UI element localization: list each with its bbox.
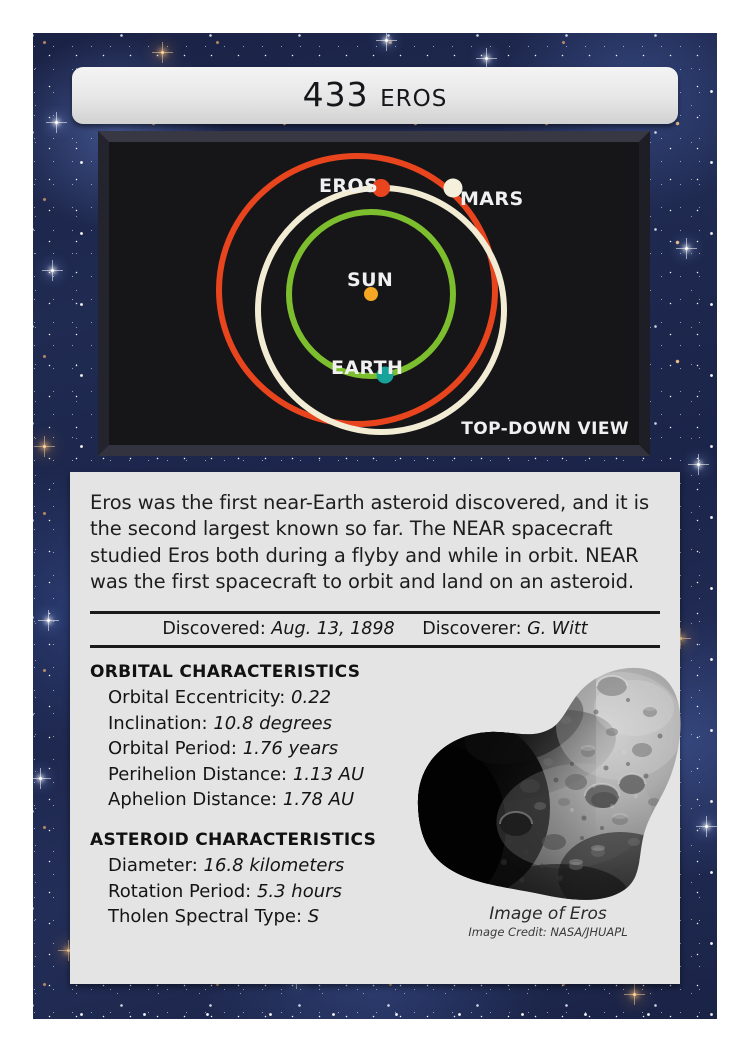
discovered-pair: Discovered: Aug. 13, 1898 (162, 619, 400, 639)
spec-label: Orbital Eccentricity: (108, 687, 285, 708)
bright-star (161, 51, 164, 54)
bright-star (697, 463, 700, 466)
bright-star (51, 269, 54, 272)
discoverer-value: G. Witt (527, 619, 588, 639)
asteroid-image-block: Image of Eros Image Credit: NASA/JHUAPL (406, 656, 690, 939)
orbit-diagram-panel: EROS MARS SUN EARTH TOP-DOWN VIEW (98, 131, 650, 456)
spec-row: Rotation Period: 5.3 hours (90, 879, 420, 905)
info-panel: Eros was the first near-Earth asteroid d… (70, 472, 680, 984)
spec-value: 5.3 hours (257, 881, 342, 902)
spec-label: Rotation Period: (108, 881, 251, 902)
spec-value: 1.13 AU (293, 764, 364, 785)
spec-row: Inclination: 10.8 degrees (90, 711, 420, 737)
discoverer-pair: Discoverer: G. Witt (422, 619, 587, 639)
discovered-label: Discovered: (162, 619, 266, 639)
diagram-view-label: TOP-DOWN VIEW (461, 419, 629, 439)
image-credit: Image Credit: NASA/JHUAPL (406, 925, 690, 939)
discovery-row: Discovered: Aug. 13, 1898 Discoverer: G.… (90, 611, 660, 648)
bright-star (55, 121, 58, 124)
specs-column: ORBITAL CHARACTERISTICS Orbital Eccentri… (90, 662, 420, 929)
spec-row: Tholen Spectral Type: S (90, 904, 420, 930)
bright-star (47, 619, 50, 622)
bright-star (633, 993, 636, 996)
asteroid-characteristics-heading: ASTEROID CHARACTERISTICS (90, 830, 420, 850)
bright-star (43, 445, 46, 448)
image-caption: Image of Eros (406, 904, 690, 924)
panel-bevel-left (98, 131, 109, 456)
spec-value: 16.8 kilometers (204, 855, 345, 876)
page-title: 433 Eros (303, 78, 448, 114)
spec-label: Tholen Spectral Type: (108, 906, 302, 927)
spec-value: 0.22 (291, 687, 331, 708)
spec-value: 1.76 years (243, 738, 338, 759)
spec-label: Aphelion Distance: (108, 789, 277, 810)
poster-page: 433 Eros EROS MARS SUN E (0, 0, 750, 1049)
spec-row: Orbital Period: 1.76 years (90, 736, 420, 762)
diagram-label-mars: MARS (460, 188, 524, 210)
panel-bevel-top (98, 131, 650, 142)
title-banner: 433 Eros (72, 67, 678, 124)
bright-star (485, 57, 488, 60)
spec-row: Diameter: 16.8 kilometers (90, 853, 420, 879)
discoverer-label: Discoverer: (422, 619, 521, 639)
bright-star (685, 247, 688, 250)
spec-value: S (308, 906, 319, 927)
spec-row: Aphelion Distance: 1.78 AU (90, 787, 420, 813)
spec-label: Perihelion Distance: (108, 764, 287, 785)
orbit-diagram-canvas: EROS MARS SUN EARTH TOP-DOWN VIEW (109, 142, 639, 445)
diagram-label-eros: EROS (319, 175, 378, 197)
spec-row: Perihelion Distance: 1.13 AU (90, 762, 420, 788)
diagram-label-earth: EARTH (331, 357, 403, 379)
panel-bevel-bottom (98, 445, 650, 456)
diagram-label-sun: SUN (347, 269, 393, 291)
spec-label: Orbital Period: (108, 738, 237, 759)
bright-star (705, 825, 708, 828)
mars-orbit-path (258, 188, 504, 432)
asteroid-shape-svg (406, 656, 690, 906)
asteroid-photo (406, 656, 690, 906)
details-area: ORBITAL CHARACTERISTICS Orbital Eccentri… (90, 662, 660, 929)
spec-label: Inclination: (108, 713, 208, 734)
discovered-value: Aug. 13, 1898 (271, 619, 394, 639)
spec-label: Diameter: (108, 855, 198, 876)
bright-star (385, 39, 388, 42)
spec-value: 1.78 AU (283, 789, 354, 810)
spec-value: 10.8 degrees (213, 713, 332, 734)
description-text: Eros was the first near-Earth asteroid d… (90, 490, 660, 595)
bright-star (39, 777, 42, 780)
panel-bevel-right (639, 131, 650, 456)
orbital-characteristics-heading: ORBITAL CHARACTERISTICS (90, 662, 420, 682)
spec-row: Orbital Eccentricity: 0.22 (90, 685, 420, 711)
